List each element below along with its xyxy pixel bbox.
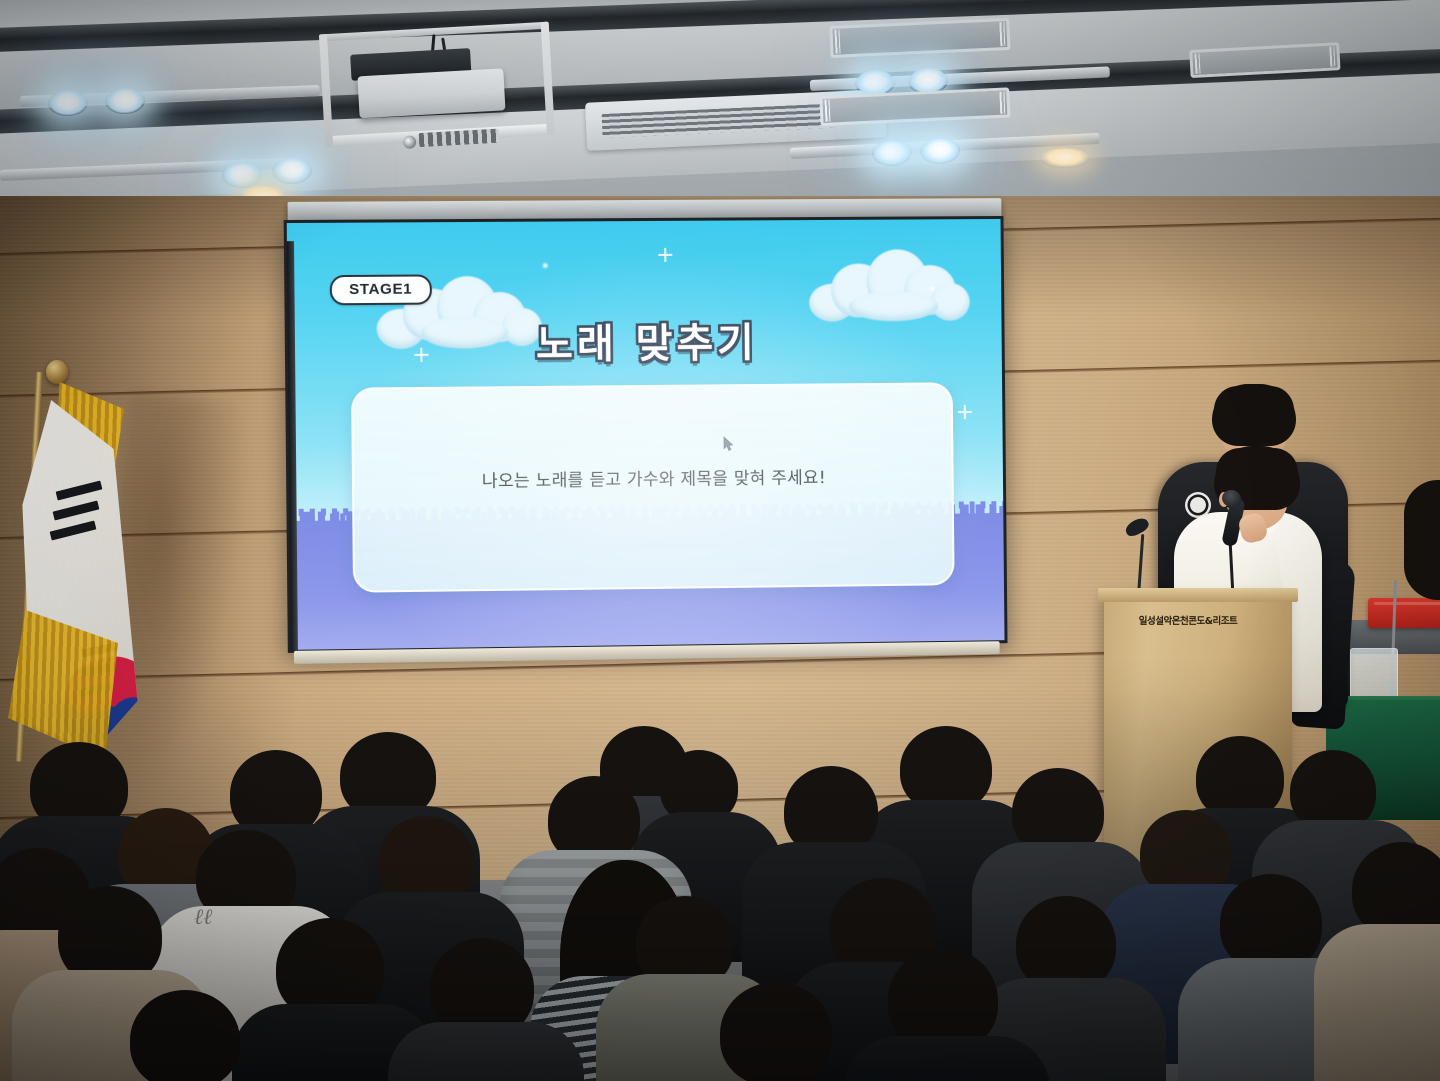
bystander-head <box>1404 480 1440 600</box>
sparkle-icon <box>541 262 549 270</box>
presentation-slide: STAGE1 노래 맞추기 나오는 노래를 듣고 가수와 제목을 맞혀 주세요! <box>287 219 1005 650</box>
gooseneck-microphone <box>1125 512 1155 600</box>
audience-shoulders <box>388 1022 584 1081</box>
ceiling-projector-mount <box>319 22 555 150</box>
sparkle-icon <box>961 408 969 416</box>
stage-badge: STAGE1 <box>330 274 432 305</box>
shirt-graphic: ℓℓ <box>194 904 212 930</box>
ceiling-downlight-warm <box>1040 148 1090 168</box>
presenter-fringe <box>1216 448 1298 484</box>
audience-head <box>130 990 240 1081</box>
flag-finial-icon <box>46 360 68 384</box>
cloud-decoration-right <box>809 243 968 318</box>
ceiling <box>0 0 1440 215</box>
slide-title: 노래 맞추기 <box>288 308 1002 372</box>
audience-head <box>720 982 832 1081</box>
slide-content-card: 나오는 노래를 듣고 가수와 제목을 맞혀 주세요! <box>351 382 955 592</box>
sparkle-icon <box>928 285 936 293</box>
red-crate <box>1368 598 1440 628</box>
podium-venue-plaque: 일성설악온천콘도&리조트 <box>1120 612 1256 628</box>
audience-section: ℓℓ <box>0 690 1440 1081</box>
slide-instruction-text: 나오는 노래를 듣고 가수와 제목을 맞혀 주세요! <box>354 462 952 493</box>
screen-surface: STAGE1 노래 맞추기 나오는 노래를 듣고 가수와 제목을 맞혀 주세요! <box>284 216 1008 653</box>
sparkle-icon <box>661 251 669 259</box>
mouse-cursor-icon <box>723 436 734 452</box>
podium-top-edge <box>1098 588 1298 602</box>
auditorium-photo: STAGE1 노래 맞추기 나오는 노래를 듣고 가수와 제목을 맞혀 주세요! <box>0 0 1440 1081</box>
audience-shoulders <box>1314 924 1440 1081</box>
audience-shoulders <box>844 1036 1050 1081</box>
projector-device <box>357 68 505 118</box>
projection-screen: STAGE1 노래 맞추기 나오는 노래를 듣고 가수와 제목을 맞혀 주세요! <box>283 198 1007 667</box>
assistant-fringe <box>1214 386 1294 420</box>
